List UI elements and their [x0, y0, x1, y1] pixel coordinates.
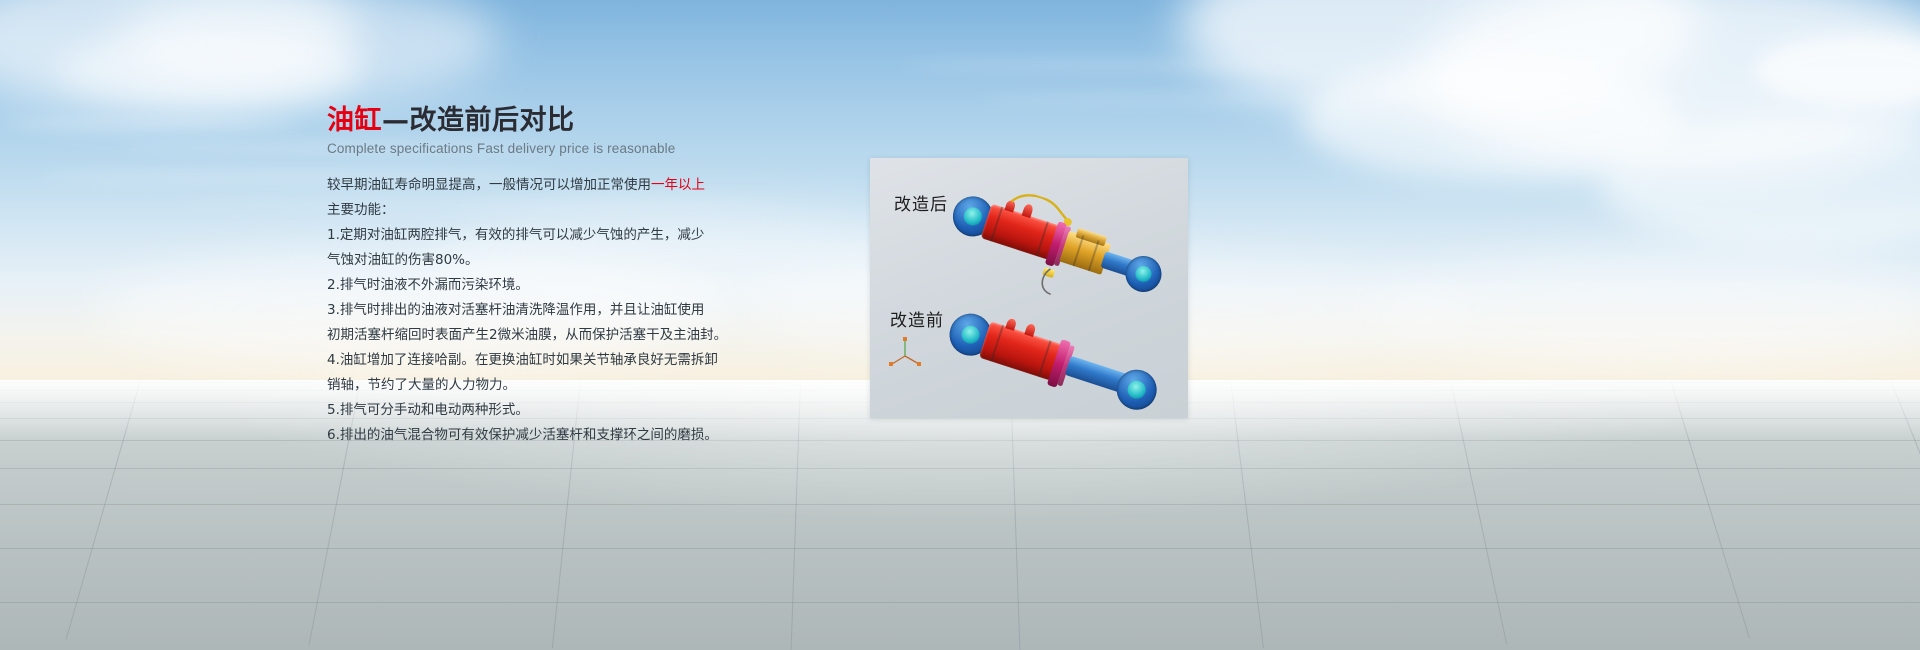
- description-line: 主要功能：: [327, 198, 757, 223]
- coordinate-axis-icon: [888, 336, 922, 370]
- description-line: 2.排气时油液不外漏而污染环境。: [327, 273, 757, 298]
- ground-pavement: [0, 380, 1920, 650]
- cloud-shape: [1380, 250, 1920, 370]
- page-title-rest: —改造前后对比: [382, 105, 575, 136]
- page-subtitle: Complete specifications Fast delivery pr…: [327, 141, 757, 157]
- description-line: 初期活塞杆缩回时表面产生2微米油膜，从而保护活塞干及主油封。: [327, 323, 757, 348]
- description-line: 销轴，节约了大量的人力物力。: [327, 373, 757, 398]
- banner-stage: 油缸—改造前后对比 Complete specifications Fast d…: [0, 0, 1920, 650]
- description-text: 较早期油缸寿命明显提高，一般情况可以增加正常使用: [327, 177, 651, 193]
- label-before-modification: 改造前: [890, 306, 944, 331]
- cloud-shape: [60, 30, 360, 110]
- description-line: 5.排气可分手动和电动两种形式。: [327, 398, 757, 423]
- description-line: 3.排气时排出的油液对活塞杆油清洗降温作用，并且让油缸使用: [327, 298, 757, 323]
- cloud-streak: [0, 118, 300, 130]
- banner-text-block: 油缸—改造前后对比 Complete specifications Fast d…: [327, 105, 757, 448]
- description-line: 气蚀对油缸的伤害80%。: [327, 248, 757, 273]
- cloud-streak: [900, 60, 1320, 70]
- product-comparison-image: 改造后 改造前: [870, 158, 1188, 418]
- description-line: 4.油缸增加了连接哈副。在更换油缸时如果关节轴承良好无需拆卸: [327, 348, 757, 373]
- description-line: 6.排出的油气混合物可有效保护减少活塞杆和支撑环之间的磨损。: [327, 423, 757, 448]
- vent-hose: [1027, 259, 1077, 308]
- feature-description-list: 较早期油缸寿命明显提高，一般情况可以增加正常使用一年以上 主要功能： 1.定期对…: [327, 173, 757, 448]
- description-line: 较早期油缸寿命明显提高，一般情况可以增加正常使用一年以上: [327, 173, 757, 198]
- description-line: 1.定期对油缸两腔排气，有效的排气可以减少气蚀的产生，减少: [327, 223, 757, 248]
- page-title: 油缸—改造前后对比: [327, 105, 757, 137]
- description-highlight: 一年以上: [651, 177, 705, 193]
- cloud-streak: [980, 95, 1360, 104]
- label-after-modification: 改造后: [894, 190, 948, 215]
- page-title-highlight: 油缸: [327, 105, 382, 136]
